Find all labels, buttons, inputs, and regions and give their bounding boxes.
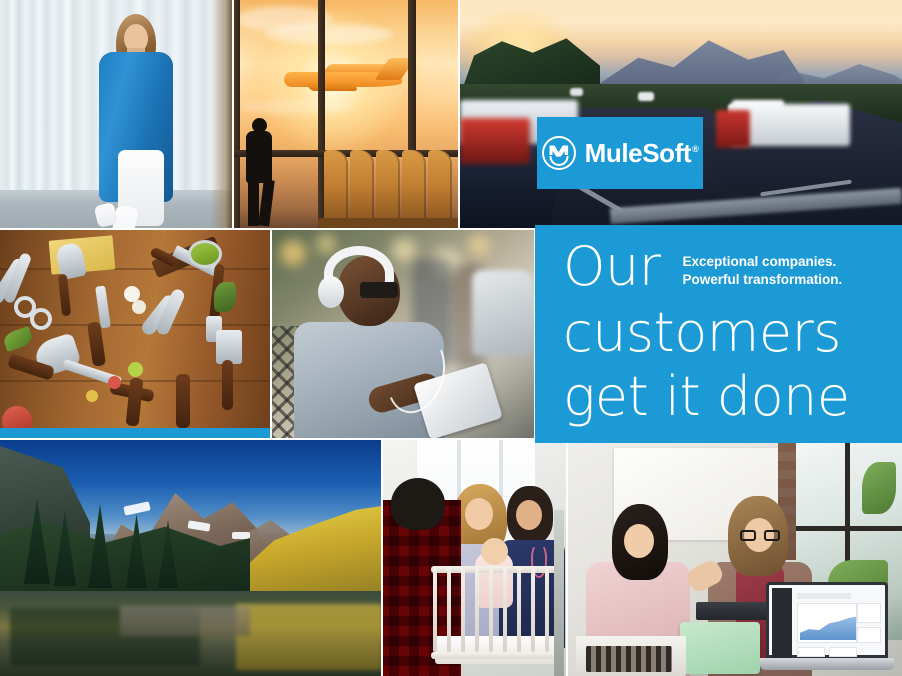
garlic-clove-2	[132, 300, 146, 314]
father-hair	[391, 478, 445, 530]
headline-line-1: Our	[563, 241, 660, 294]
shears-ring-b	[30, 308, 52, 330]
crib-rail-2	[447, 566, 451, 652]
subtitle-line-2: Powerful transformation.	[682, 271, 842, 289]
collage-tile-retail	[0, 0, 232, 228]
crib-rail-5	[489, 566, 493, 652]
eyeglass-lens-right	[764, 530, 780, 541]
dashboard-titlebar	[797, 593, 851, 599]
brochure-cover: MuleSoft®	[0, 0, 902, 676]
plane-wing-lower	[305, 82, 358, 91]
collage-tile-travel	[234, 0, 458, 228]
bed-side-post	[554, 510, 564, 676]
model-shoe-left	[1, 0, 232, 12]
crib-rail-4	[475, 566, 479, 652]
brand-wordmark: MuleSoft®	[585, 138, 699, 169]
dashboard-widget-4	[829, 647, 857, 657]
headline-line-3: get it done	[563, 371, 850, 424]
truck-distant-2	[638, 92, 654, 101]
snow-patch-3	[232, 532, 250, 539]
green-storage-box	[680, 622, 760, 674]
traveller-torso	[246, 131, 272, 183]
truck-right-cab	[716, 110, 750, 148]
woman-1-face	[624, 524, 654, 558]
crib-rail-9	[545, 566, 549, 652]
hero-panel: Our Exceptional companies. Powerful tran…	[535, 225, 902, 443]
crib-rail-3	[461, 566, 465, 652]
dashboard-widget-1	[857, 603, 881, 623]
traveller-leg-right	[258, 180, 275, 227]
mother-face	[465, 498, 493, 530]
crib-bottom-rail	[431, 652, 563, 659]
truck-left-cab	[460, 118, 530, 164]
knife-handle-lower	[176, 374, 190, 428]
crib-rail-7	[517, 566, 521, 652]
background-parked-car	[472, 270, 534, 356]
melon-ball-green	[128, 362, 143, 377]
bokeh-light-2	[316, 234, 336, 254]
bokeh-light-3	[392, 238, 416, 262]
brand-name-text: MuleSoft	[585, 138, 692, 168]
crib-rail-1	[433, 566, 437, 652]
herb-sprig	[214, 282, 236, 312]
notebooks-stack	[696, 602, 768, 620]
terminal-seating	[302, 138, 458, 228]
eyeglasses-icon	[740, 530, 780, 541]
seating-base-rail	[318, 218, 458, 228]
nurse-face	[516, 500, 542, 530]
laptop-base	[760, 658, 894, 670]
hero-first-line-row: Our Exceptional companies. Powerful tran…	[563, 241, 888, 294]
infant-head	[481, 538, 508, 565]
eyeglass-lens-left	[740, 530, 756, 541]
terminal-chair-5	[428, 150, 452, 222]
collage-tile-healthcare	[383, 440, 566, 676]
dashboard-widget-2	[857, 627, 881, 643]
terminal-chair-2	[350, 150, 374, 222]
retail-right-edge-shadow	[210, 0, 232, 228]
dashboard-widget-3	[797, 647, 825, 657]
crib-rail-8	[531, 566, 535, 652]
sunglasses	[360, 282, 398, 298]
cheese-slicer-handle	[58, 274, 71, 317]
terminal-chair-4	[402, 150, 426, 222]
window-mullion-0	[234, 0, 240, 228]
spatula-head	[216, 330, 242, 364]
window-frame-horizontal	[796, 526, 902, 531]
laptop	[766, 582, 888, 670]
analytics-area-chart	[797, 603, 857, 643]
headphone-earcup	[318, 276, 344, 308]
aspen-reflection	[236, 604, 381, 670]
bokeh-light-1	[280, 240, 306, 266]
spatula-handle	[222, 360, 233, 410]
laptop-screen	[766, 582, 888, 658]
mulesoft-m-mark-icon	[542, 136, 576, 170]
melon-ball-red	[108, 376, 121, 389]
bokeh-light-5	[468, 234, 490, 256]
dashboard-sidebar	[772, 588, 792, 658]
chart-area-series	[800, 614, 856, 640]
airplane-silhouette	[284, 58, 408, 98]
brand-trademark-symbol: ®	[692, 144, 698, 154]
subtitle-line-1: Exceptional companies.	[682, 253, 842, 271]
keyboard-desk-item	[586, 646, 672, 672]
terminal-chair-1	[324, 150, 348, 222]
collage-tile-logistics: MuleSoft®	[460, 0, 902, 228]
melon-ball-yellow	[86, 390, 98, 402]
truck-distant-3	[570, 88, 583, 96]
collage-tile-tools	[0, 230, 270, 438]
headline-line-2: customers	[563, 307, 841, 360]
crib-rail-6	[503, 566, 507, 652]
hanging-plant	[862, 462, 896, 514]
terminal-chair-3	[376, 150, 400, 222]
hero-subtitle: Exceptional companies. Powerful transfor…	[682, 253, 842, 289]
mulesoft-logo-lockup: MuleSoft®	[537, 117, 703, 189]
cloud-3	[240, 100, 350, 114]
tools-tile-blue-strip	[0, 428, 270, 438]
collage-tile-business	[568, 440, 902, 676]
peak-reflection	[120, 606, 250, 636]
collage-tile-media	[272, 230, 534, 438]
hospital-crib	[431, 566, 563, 670]
traveller-leg-left	[248, 180, 259, 226]
basil-leaf	[2, 326, 34, 352]
cloud-2	[264, 24, 394, 44]
collage-tile-outdoors	[0, 440, 381, 676]
